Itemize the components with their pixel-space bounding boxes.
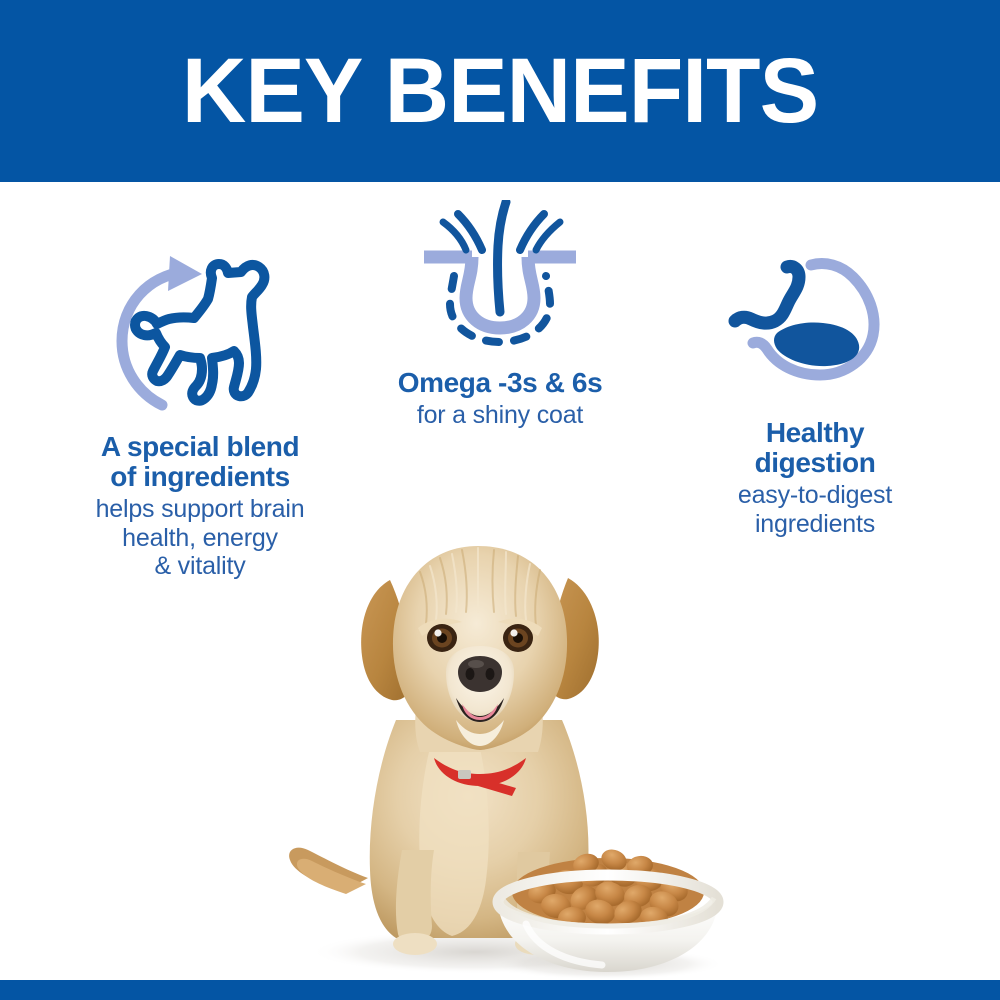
benefit-title-line-1: Healthy: [650, 418, 980, 448]
benefit-title-line-1: Omega -3s & 6s: [330, 368, 670, 398]
dog-refresh-arrow-icon: [20, 240, 380, 420]
stomach-icon: [650, 255, 980, 390]
hair-follicle-icon: [330, 200, 670, 355]
dog-with-food-bowl-photo: [250, 520, 750, 990]
benefit-title-line-2: digestion: [650, 448, 980, 478]
key-benefits-panel: KEY BENEFITS A special blend of ingredie…: [0, 0, 1000, 1000]
benefit-sub-line-1: for a shiny coat: [330, 401, 670, 430]
page-title: KEY BENEFITS: [182, 45, 818, 137]
benefit-title-line-1: A special blend: [20, 432, 380, 462]
footer-banner: [0, 980, 1000, 1000]
benefit-title-line-2: of ingredients: [20, 462, 380, 492]
header-banner: KEY BENEFITS: [0, 0, 1000, 182]
benefit-omega-3s-6s: Omega -3s & 6s for a shiny coat: [330, 200, 670, 429]
benefit-title-omega: Omega -3s & 6s: [330, 368, 670, 398]
benefit-title-digestion: Healthy digestion: [650, 418, 980, 477]
benefit-title-special-blend: A special blend of ingredients: [20, 432, 380, 491]
benefit-subtext-omega: for a shiny coat: [330, 401, 670, 430]
benefit-sub-line-1: easy-to-digest: [650, 481, 980, 510]
benefit-healthy-digestion: Healthy digestion easy-to-digest ingredi…: [650, 255, 980, 538]
